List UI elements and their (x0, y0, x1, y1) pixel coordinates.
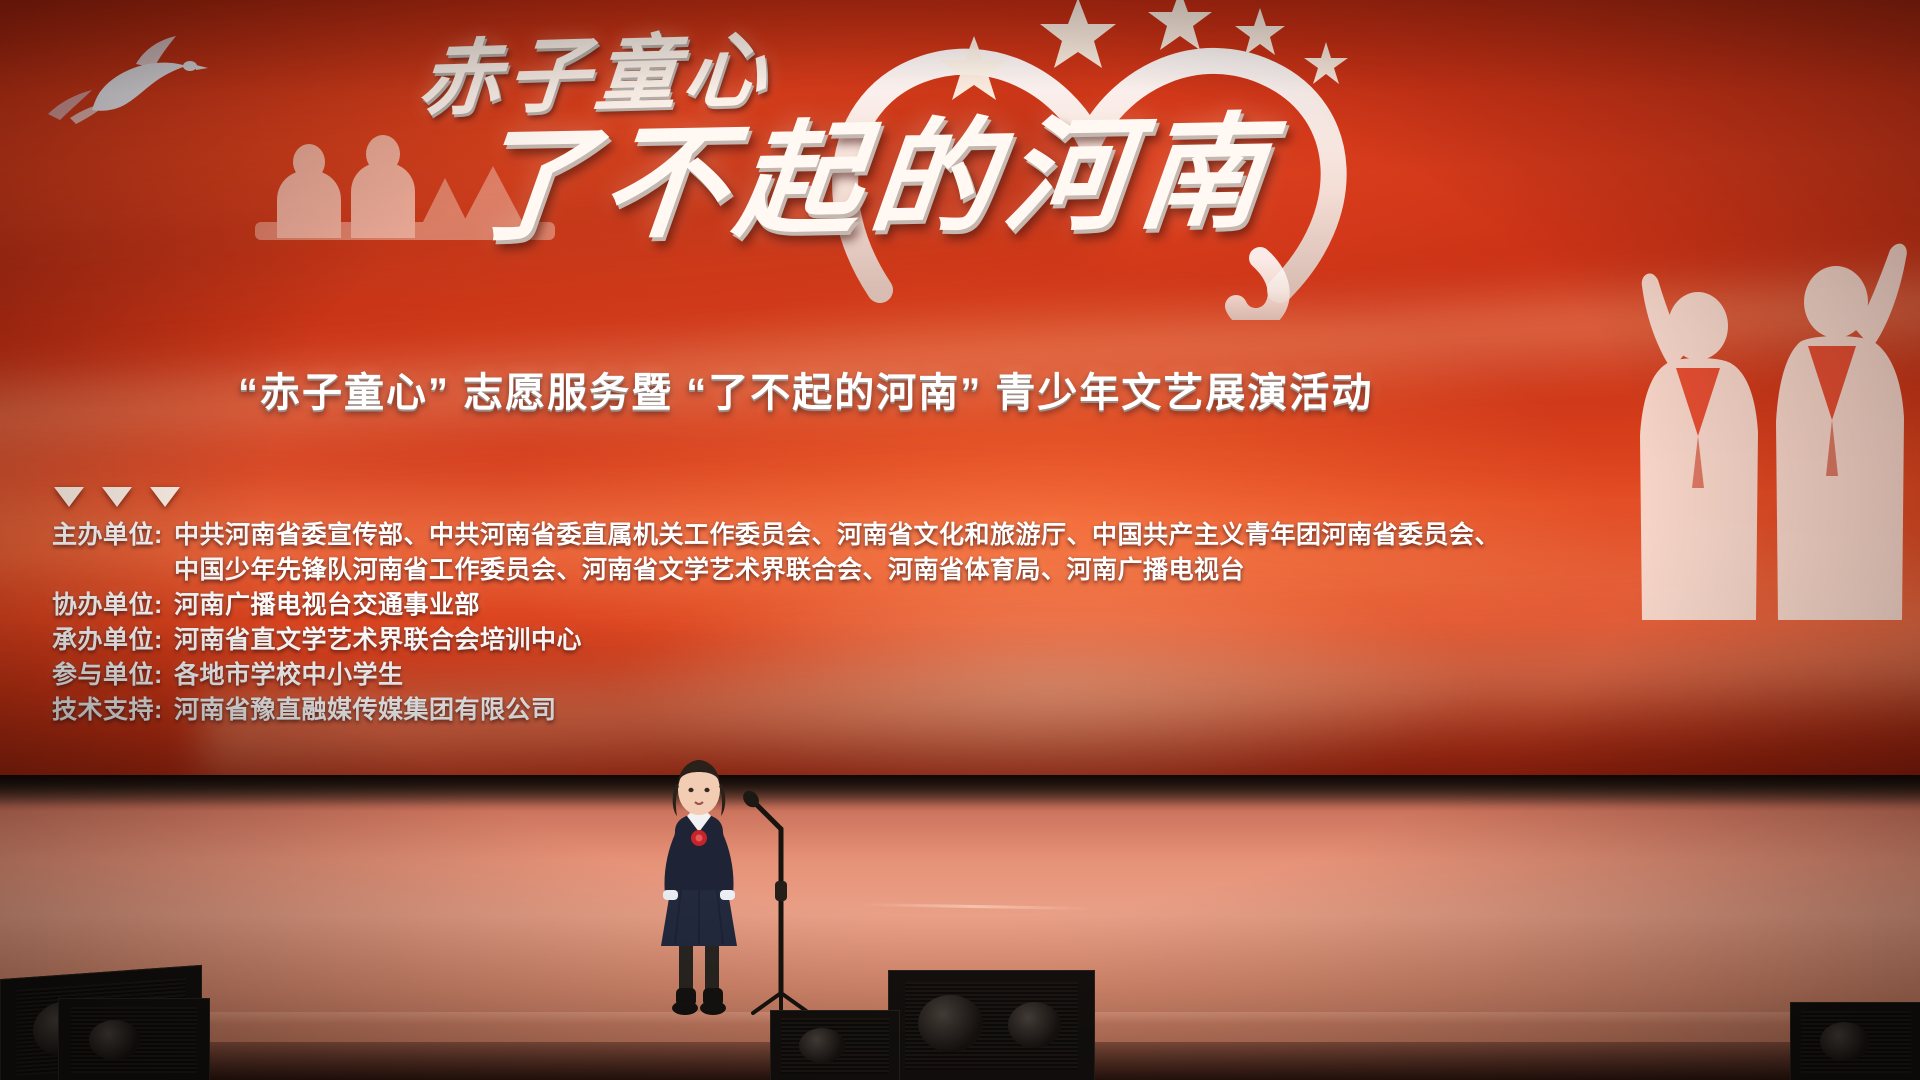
triangle-down-icon (150, 487, 180, 507)
credit-value: 河南广播电视台交通事业部 (174, 588, 480, 623)
stage-photo: 赤子童心 了不起的河南 “赤子童心” 志愿服务暨 “了不起的河南” 青少年文艺展… (0, 0, 1920, 1080)
microphone-stand (735, 785, 825, 1025)
title-main: 了不起的河南 (460, 71, 1285, 265)
stage-monitor-speaker (770, 1010, 900, 1080)
stage-monitor-speaker (1790, 1002, 1920, 1080)
stage-floor-shadow (0, 775, 1920, 811)
speaker-cone (1820, 1022, 1869, 1061)
triangle-down-icon (54, 487, 84, 507)
credit-label: 参与单位: (52, 658, 174, 693)
credit-row: 参与单位: 各地市学校中小学生 (52, 658, 1500, 693)
credit-row: 协办单位: 河南广播电视台交通事业部 (52, 588, 1500, 623)
stage-monitor-speaker (58, 998, 210, 1080)
triangle-down-icon (102, 487, 132, 507)
speaker-cone (89, 1020, 140, 1059)
dove-icon (40, 18, 260, 138)
credit-row: 技术支持: 河南省豫直融媒传媒集团有限公司 (52, 693, 1500, 728)
credit-label: 协办单位: (52, 588, 174, 623)
speaker-cone (799, 1028, 845, 1063)
credit-value: 中国少年先锋队河南省工作委员会、河南省文学艺术界联合会、河南省体育局、河南广播电… (174, 553, 1245, 588)
credit-value: 河南省直文学艺术界联合会培训中心 (174, 623, 582, 658)
arrow-markers (54, 487, 180, 507)
credits-block: 主办单位: 中共河南省委宣传部、中共河南省委直属机关工作委员会、河南省文化和旅游… (52, 518, 1500, 728)
event-subtitle: “赤子童心” 志愿服务暨 “了不起的河南” 青少年文艺展演活动 (238, 360, 1373, 418)
credit-value: 河南省豫直融媒传媒集团有限公司 (174, 693, 557, 728)
speaker-cone (1008, 1002, 1061, 1048)
credit-label: 技术支持: (52, 693, 174, 728)
led-backdrop: 赤子童心 了不起的河南 “赤子童心” 志愿服务暨 “了不起的河南” 青少年文艺展… (0, 0, 1920, 775)
credit-label: 主办单位: (52, 518, 174, 553)
stage-monitor-speaker (888, 970, 1095, 1080)
credit-row: 承办单位: 河南省直文学艺术界联合会培训中心 (52, 623, 1500, 658)
credit-label: 承办单位: (52, 623, 174, 658)
credit-value: 中共河南省委宣传部、中共河南省委直属机关工作委员会、河南省文化和旅游厅、中国共产… (174, 518, 1500, 553)
credit-row: 中国少年先锋队河南省工作委员会、河南省文学艺术界联合会、河南省体育局、河南广播电… (52, 553, 1500, 588)
credit-row: 主办单位: 中共河南省委宣传部、中共河南省委直属机关工作委员会、河南省文化和旅游… (52, 518, 1500, 553)
credit-value: 各地市学校中小学生 (174, 658, 404, 693)
cheering-youth-silhouettes (1580, 240, 1920, 620)
